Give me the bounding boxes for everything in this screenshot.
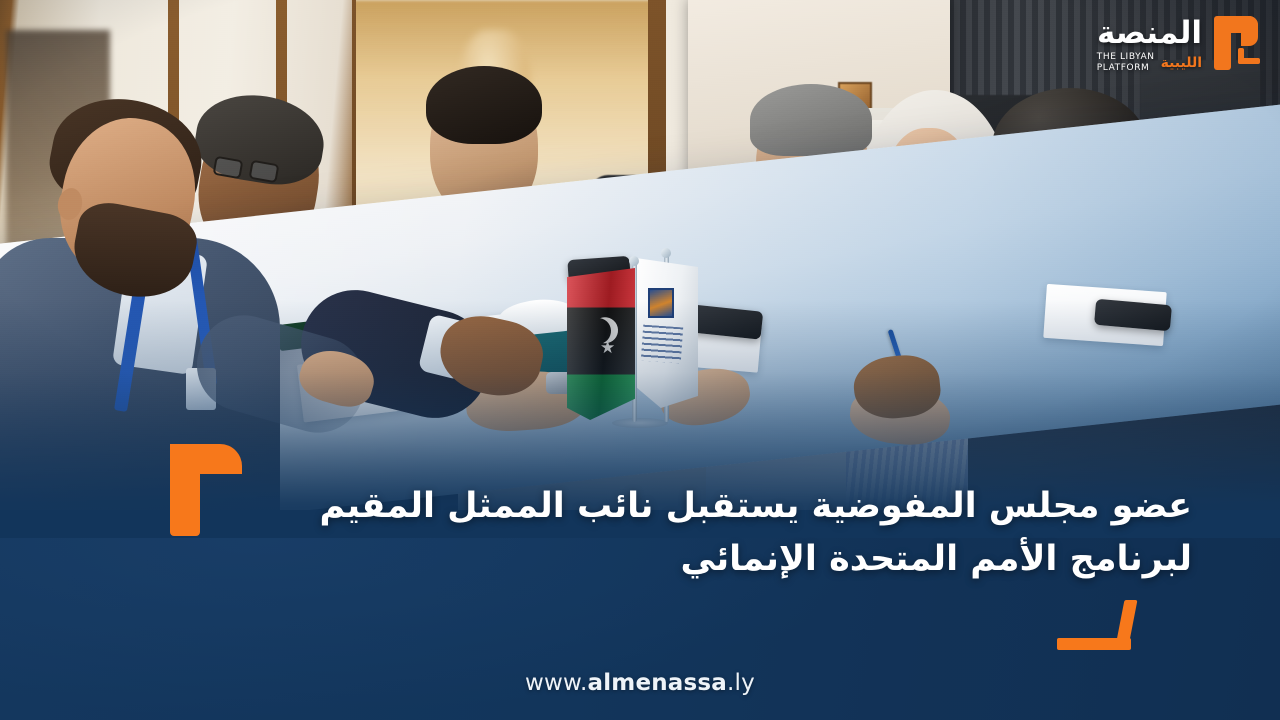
l-mark-horizontal: [1057, 638, 1131, 650]
brand-name-english-line1: THE LIBYAN: [1097, 52, 1155, 63]
url-name: almenassa: [587, 670, 727, 696]
website-url[interactable]: www.almenassa.ly: [0, 670, 1280, 696]
brand-name-arabic: المنصة: [1097, 18, 1202, 49]
almenassa-logo-mark-icon: [1208, 14, 1262, 72]
brand-logo-text: المنصة THE LIBYAN PLATFORM الليبية: [1097, 14, 1202, 73]
bracket-horizontal: [170, 444, 242, 474]
orange-l-mark-icon: [1057, 600, 1143, 650]
headline: عضو مجلس المفوضية يستقبل نائب الممثل الم…: [150, 480, 1192, 586]
brand-name-english: THE LIBYAN PLATFORM: [1097, 52, 1155, 73]
url-prefix: www.: [525, 670, 587, 696]
logo-mark-hook: [1241, 16, 1258, 46]
headline-line-2: لبرنامج الأمم المتحدة الإنمائي: [150, 533, 1192, 586]
brand-logo[interactable]: المنصة THE LIBYAN PLATFORM الليبية: [1097, 14, 1262, 73]
logo-mark-stem: [1214, 16, 1231, 70]
logo-mark-tail: [1238, 58, 1260, 64]
brand-name-english-line2: PLATFORM: [1097, 63, 1155, 74]
brand-logo-subline: THE LIBYAN PLATFORM الليبية: [1097, 52, 1202, 73]
news-card: ★ المنصة THE LIBYAN PLATFORM الليبية: [0, 0, 1280, 720]
url-tld: .ly: [727, 670, 755, 696]
brand-subtitle-arabic: الليبية: [1161, 56, 1202, 70]
headline-line-1: عضو مجلس المفوضية يستقبل نائب الممثل الم…: [150, 480, 1192, 533]
